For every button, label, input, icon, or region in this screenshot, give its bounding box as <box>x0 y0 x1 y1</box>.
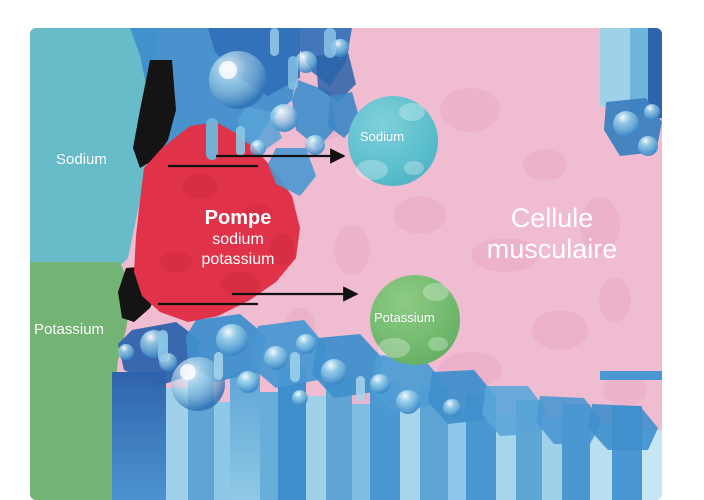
cell-diagram-figure: Sodium Potassium Pompe sodium potassium … <box>0 0 704 500</box>
diagram-content <box>30 28 662 500</box>
diagram-canvas <box>0 0 704 500</box>
